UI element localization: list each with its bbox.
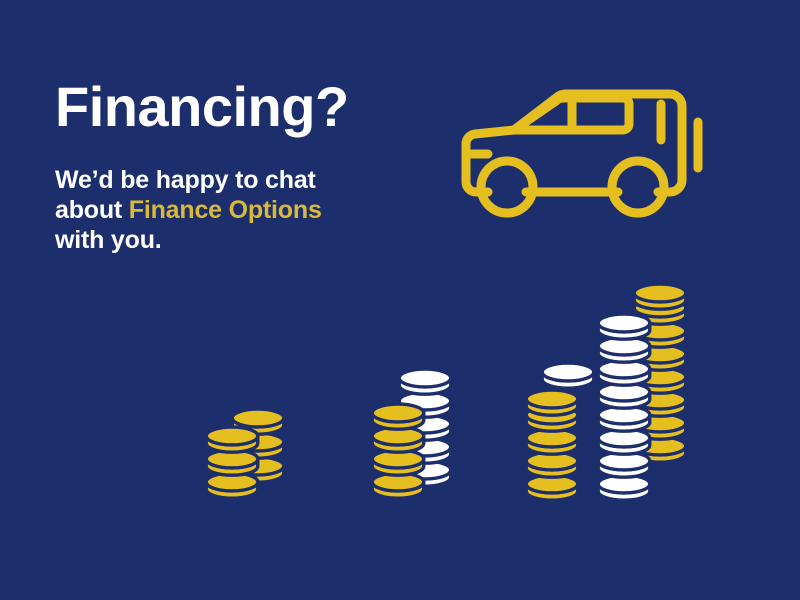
body-line-1: We’d be happy to chat — [55, 166, 316, 194]
coin-stack-medium — [372, 369, 451, 498]
finance-options-link[interactable]: Finance Options — [129, 196, 322, 224]
body-copy: We’d be happy to chat about Finance Opti… — [55, 135, 395, 255]
body-line-3: with you. — [55, 226, 162, 254]
slide-canvas: Financing? We’d be happy to chat about F… — [0, 0, 800, 600]
suv-car-icon — [452, 78, 714, 218]
coin-stack-large — [526, 284, 686, 500]
page-title: Financing? — [55, 78, 395, 135]
coin-stack-small — [206, 409, 284, 498]
body-line-2-prefix: about — [55, 196, 129, 224]
text-block: Financing? We’d be happy to chat about F… — [55, 78, 395, 255]
